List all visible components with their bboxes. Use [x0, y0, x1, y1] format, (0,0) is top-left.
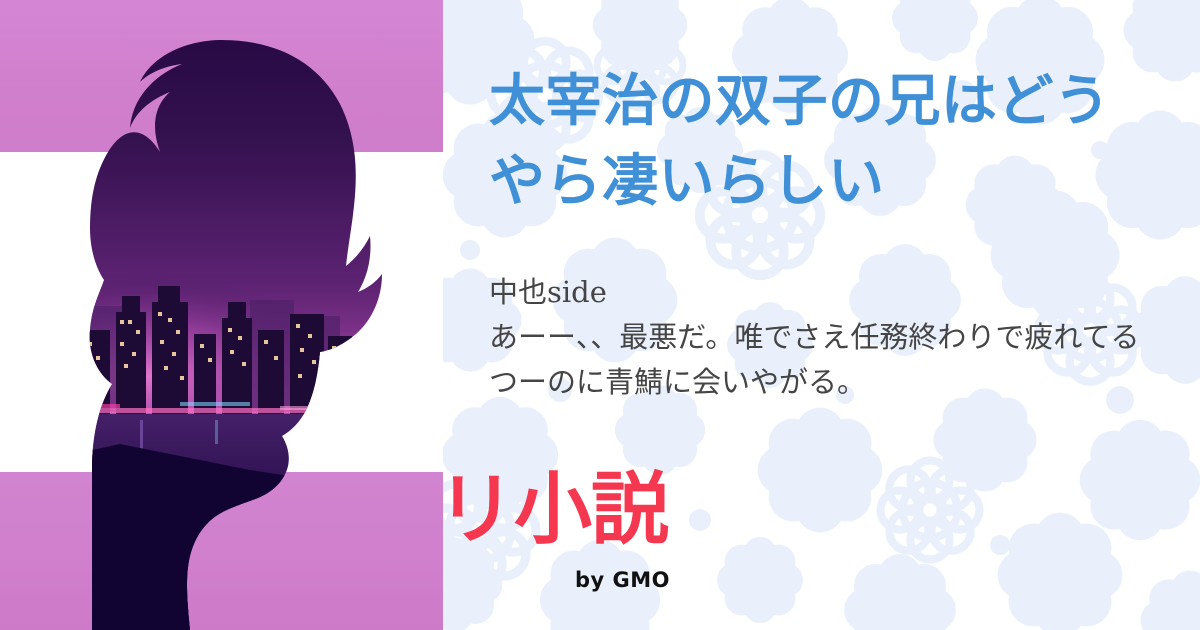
silhouette-cityscape-artwork [0, 0, 443, 630]
story-title: 太宰治の双子の兄はどうやら凄いらしい [489, 62, 1149, 221]
story-card: 太宰治の双子の兄はどうやら凄いらしい 中也side あーー、、最悪だ。唯でさえ任… [0, 0, 1200, 630]
story-excerpt: 中也side あーー、、最悪だ。唯でさえ任務終わりで疲れてるつーのに青鯖に会いや… [489, 270, 1149, 406]
story-text-column: 太宰治の双子の兄はどうやら凄いらしい 中也side あーー、、最悪だ。唯でさえ任… [489, 0, 1169, 630]
cover-image-panel [0, 0, 443, 630]
